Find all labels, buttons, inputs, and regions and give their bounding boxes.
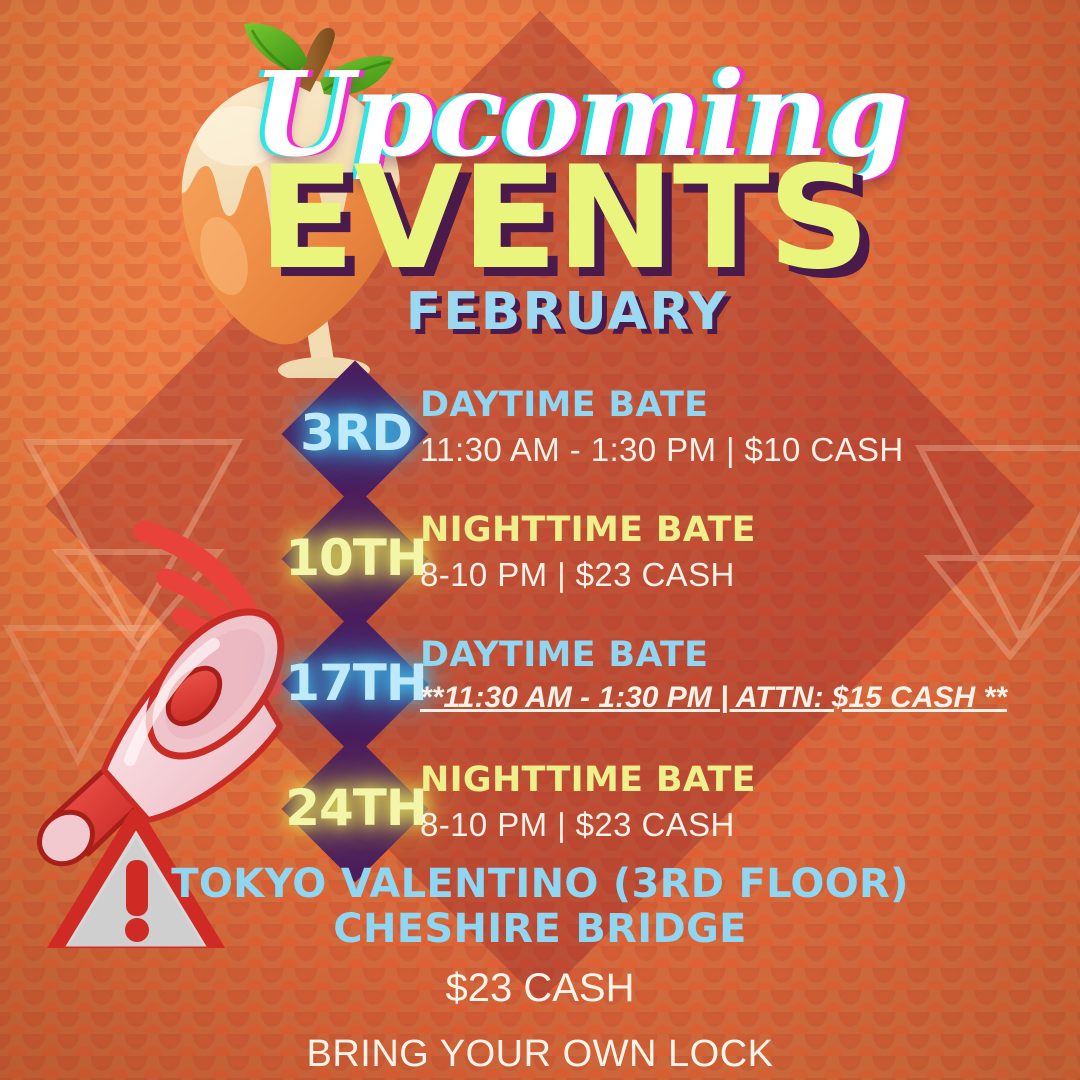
- event-details-emphasis: **11:30 AM - 1:30 PM | ATTN: $15 CASH **: [420, 681, 1007, 716]
- caramel-apple-icon: [148, 18, 438, 378]
- footer-price: $23 CASH: [0, 966, 1080, 1011]
- flyer-footer: TOKYO VALENTINO (3RD FLOOR) CHESHIRE BRI…: [0, 862, 1080, 1076]
- event-title: DAYTIME BATE: [420, 636, 1007, 675]
- event-info: NIGHTTIME BATE 8-10 PM | $23 CASH: [420, 761, 756, 843]
- event-row: 10TH NIGHTTIME BATE 8-10 PM | $23 CASH: [0, 497, 1080, 622]
- venue-line-1: TOKYO VALENTINO (3RD FLOOR): [0, 862, 1080, 907]
- event-date: 10TH: [268, 533, 444, 583]
- footer-note: BRING YOUR OWN LOCK: [0, 1033, 1080, 1076]
- event-details: 8-10 PM | $23 CASH: [420, 556, 756, 594]
- event-title: NIGHTTIME BATE: [420, 761, 756, 800]
- event-info: NIGHTTIME BATE 8-10 PM | $23 CASH: [420, 511, 756, 593]
- event-details: 11:30 AM - 1:30 PM | $10 CASH: [420, 431, 904, 469]
- venue-line-2: CHESHIRE BRIDGE: [0, 907, 1080, 952]
- event-flyer: Upcoming EVENTS FEBRUARY 3RD DAYTIME BAT…: [0, 0, 1080, 1080]
- event-details: 8-10 PM | $23 CASH: [420, 806, 756, 844]
- event-row: 3RD DAYTIME BATE 11:30 AM - 1:30 PM | $1…: [0, 372, 1080, 497]
- event-row: 24TH NIGHTTIME BATE 8-10 PM | $23 CASH: [0, 747, 1080, 872]
- event-title: DAYTIME BATE: [420, 386, 904, 425]
- event-date: 3RD: [268, 408, 444, 458]
- event-info: DAYTIME BATE 11:30 AM - 1:30 PM | $10 CA…: [420, 386, 904, 468]
- events-list: 3RD DAYTIME BATE 11:30 AM - 1:30 PM | $1…: [0, 372, 1080, 872]
- event-date: 17TH: [268, 658, 444, 708]
- event-info: DAYTIME BATE **11:30 AM - 1:30 PM | ATTN…: [420, 636, 1007, 715]
- event-title: NIGHTTIME BATE: [420, 511, 756, 550]
- event-date: 24TH: [268, 783, 444, 833]
- event-row: 17TH DAYTIME BATE **11:30 AM - 1:30 PM |…: [0, 622, 1080, 747]
